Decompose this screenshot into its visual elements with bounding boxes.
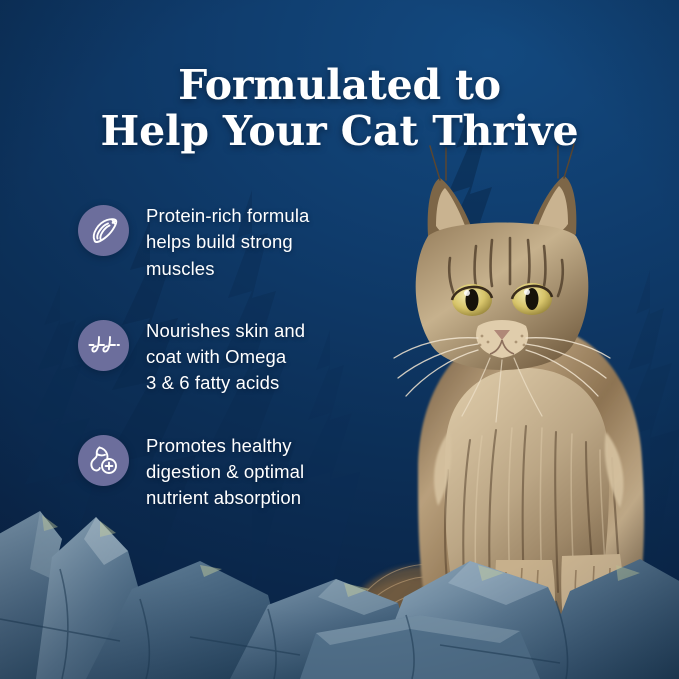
benefit-line: coat with Omega — [146, 346, 286, 367]
benefit-line: helps build strong — [146, 231, 293, 252]
benefit-line: muscles — [146, 258, 215, 279]
benefit-line: Nourishes skin and — [146, 320, 305, 341]
benefit-icon-circle — [78, 205, 129, 256]
benefit-item-skin-coat: Nourishes skin and coat with Omega 3 & 6… — [78, 318, 348, 397]
benefit-list: Protein-rich formula helps build strong … — [78, 203, 348, 511]
page-title: Formulated to Help Your Cat Thrive — [0, 63, 679, 155]
benefit-line: nutrient absorption — [146, 487, 301, 508]
product-benefit-infographic: Formulated to Help Your Cat Thrive Prote… — [0, 0, 679, 679]
benefit-item-protein: Protein-rich formula helps build strong … — [78, 203, 348, 282]
benefit-line: 3 & 6 fatty acids — [146, 372, 279, 393]
benefit-icon-circle — [78, 435, 129, 486]
benefit-line: Protein-rich formula — [146, 205, 309, 226]
hair-follicle-icon — [87, 329, 121, 361]
benefit-text-digestion: Promotes healthy digestion & optimal nut… — [146, 433, 304, 512]
benefit-text-protein: Protein-rich formula helps build strong … — [146, 203, 309, 282]
muscle-icon — [88, 215, 120, 247]
benefit-line: Promotes healthy — [146, 435, 292, 456]
benefit-text-skin-coat: Nourishes skin and coat with Omega 3 & 6… — [146, 318, 305, 397]
stomach-plus-icon — [87, 444, 120, 476]
benefit-line: digestion & optimal — [146, 461, 304, 482]
benefit-icon-circle — [78, 320, 129, 371]
benefit-item-digestion: Promotes healthy digestion & optimal nut… — [78, 433, 348, 512]
headline-line-1: Formulated to — [178, 61, 501, 109]
headline-line-2: Help Your Cat Thrive — [0, 109, 679, 155]
